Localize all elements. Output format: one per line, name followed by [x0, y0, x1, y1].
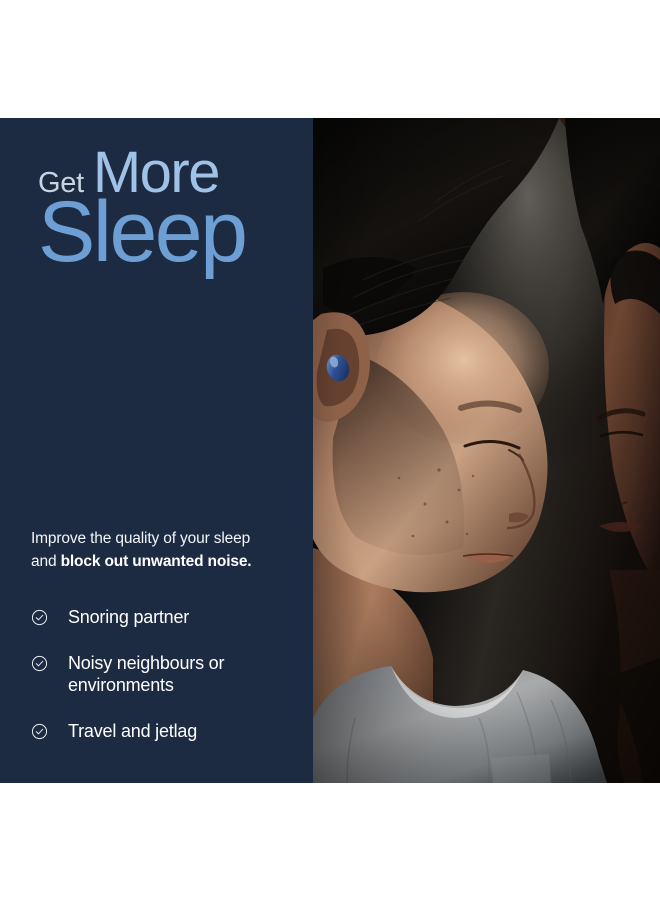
list-item-label: Noisy neighbours or environments — [68, 652, 301, 697]
page-root: GetMore Sleep Improve the quality of you… — [0, 0, 660, 900]
headline-main: Sleep — [38, 193, 308, 272]
banner-text-panel: GetMore Sleep Improve the quality of you… — [0, 118, 313, 783]
page-title: GetMore Sleep — [38, 146, 308, 272]
check-circle-icon — [31, 723, 48, 740]
lede-text-bold: block out unwanted noise. — [61, 553, 252, 570]
list-item-label: Travel and jetlag — [68, 720, 197, 743]
list-item-label: Snoring partner — [68, 606, 189, 629]
list-item: Travel and jetlag — [31, 720, 301, 743]
check-circle-icon — [31, 609, 48, 626]
benefit-list: Snoring partner Noisy neighbours or envi… — [31, 606, 301, 742]
promo-banner: GetMore Sleep Improve the quality of you… — [0, 118, 660, 783]
lifestyle-photo-illustration — [313, 118, 660, 783]
check-circle-icon — [31, 655, 48, 672]
lifestyle-photo — [313, 118, 660, 783]
lede-paragraph: Improve the quality of your sleep and bl… — [31, 527, 276, 574]
list-item: Noisy neighbours or environments — [31, 652, 301, 697]
list-item: Snoring partner — [31, 606, 301, 629]
